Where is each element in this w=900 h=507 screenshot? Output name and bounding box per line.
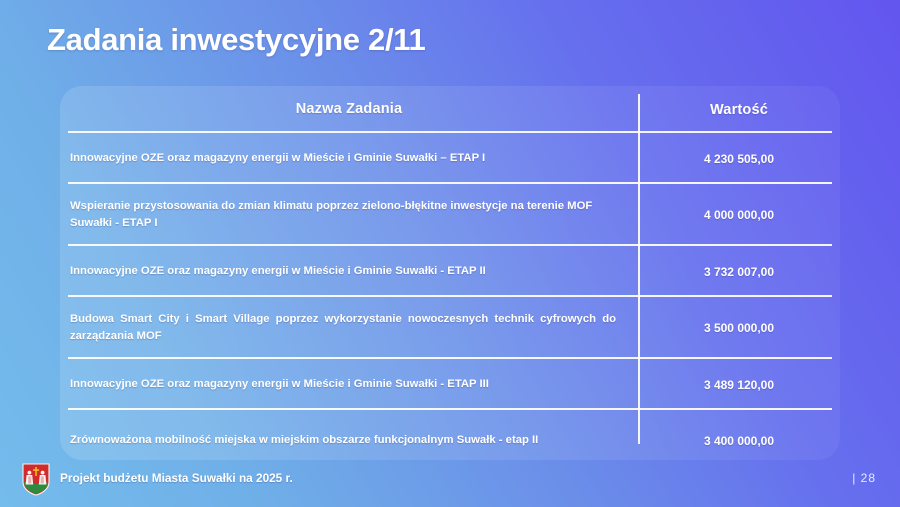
table-grid: Nazwa Zadania Wartość Innowacyjne OZE or…	[60, 86, 840, 460]
task-value: 4 000 000,00	[638, 208, 840, 222]
task-name: Innowacyjne OZE oraz magazyny energii w …	[60, 263, 638, 281]
task-name: Wspieranie przystosowania do zmian klima…	[60, 198, 638, 233]
suwalki-coat-of-arms-icon	[22, 463, 50, 496]
table-row: Innowacyjne OZE oraz magazyny energii w …	[60, 133, 840, 184]
table-header-row: Nazwa Zadania Wartość	[60, 86, 840, 133]
page-number: | 28	[852, 471, 876, 485]
slide-footer: Projekt budżetu Miasta Suwałki na 2025 r…	[0, 460, 900, 507]
task-name: Budowa Smart City i Smart Village poprze…	[60, 311, 638, 346]
task-value: 3 400 000,00	[638, 434, 840, 448]
investment-tasks-table: Nazwa Zadania Wartość Innowacyjne OZE or…	[60, 86, 840, 460]
table-row: Wspieranie przystosowania do zmian klima…	[60, 184, 840, 246]
column-header-value: Wartość	[638, 102, 840, 118]
footer-label: Projekt budżetu Miasta Suwałki na 2025 r…	[60, 471, 293, 485]
column-header-name: Nazwa Zadania	[60, 98, 638, 120]
task-name: Zrównoważona mobilność miejska w miejski…	[60, 432, 638, 450]
task-name: Innowacyjne OZE oraz magazyny energii w …	[60, 376, 638, 394]
task-value: 3 732 007,00	[638, 265, 840, 279]
table-row: Zrównoważona mobilność miejska w miejski…	[60, 410, 840, 460]
task-value: 3 489 120,00	[638, 378, 840, 392]
task-value: 3 500 000,00	[638, 321, 840, 335]
task-name: Innowacyjne OZE oraz magazyny energii w …	[60, 150, 638, 168]
table-row: Innowacyjne OZE oraz magazyny energii w …	[60, 359, 840, 410]
task-value: 4 230 505,00	[638, 152, 840, 166]
table-row: Innowacyjne OZE oraz magazyny energii w …	[60, 246, 840, 297]
page-title: Zadania inwestycyjne 2/11	[47, 22, 425, 58]
table-row: Budowa Smart City i Smart Village poprze…	[60, 297, 840, 359]
